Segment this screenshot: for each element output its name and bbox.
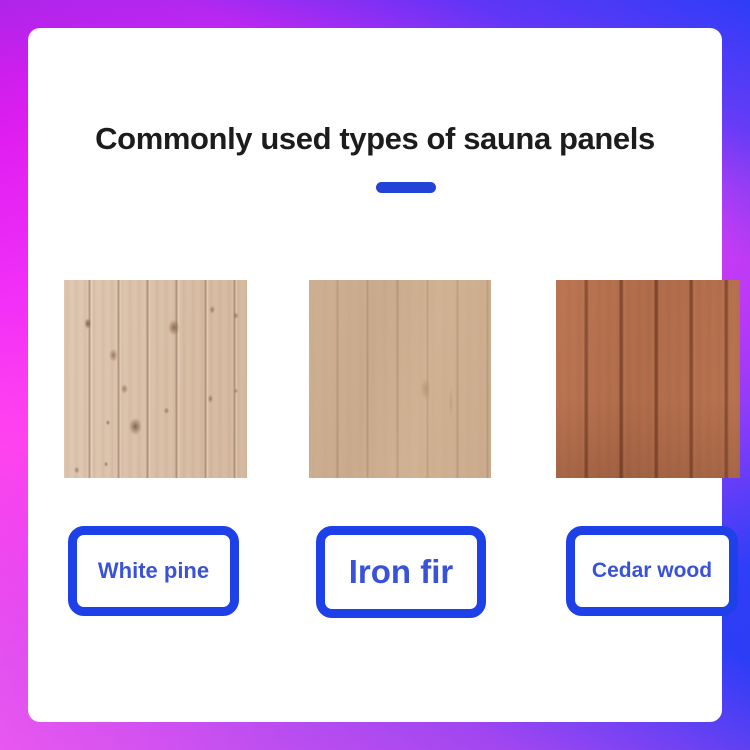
label-chip-text: Cedar wood [592, 559, 712, 583]
label-chip-iron-fir[interactable]: Iron fir [316, 526, 486, 618]
wood-knot-texture [64, 280, 247, 478]
wood-swatch-iron-fir [309, 280, 491, 478]
label-chip-text: White pine [98, 558, 209, 584]
wood-knot-texture [309, 280, 491, 478]
content-card: Commonly used types of sauna panels Whit… [28, 28, 722, 722]
label-chip-cedar-wood[interactable]: Cedar wood [566, 526, 738, 616]
title-accent-rule [376, 182, 436, 193]
promo-graphic: Commonly used types of sauna panels Whit… [0, 0, 750, 750]
page-title: Commonly used types of sauna panels [28, 121, 722, 157]
wood-swatch-cedar-wood [556, 280, 740, 478]
label-chip-white-pine[interactable]: White pine [68, 526, 239, 616]
label-chip-text: Iron fir [349, 553, 454, 591]
wood-swatch-white-pine [64, 280, 247, 478]
wood-knot-texture [556, 280, 740, 478]
